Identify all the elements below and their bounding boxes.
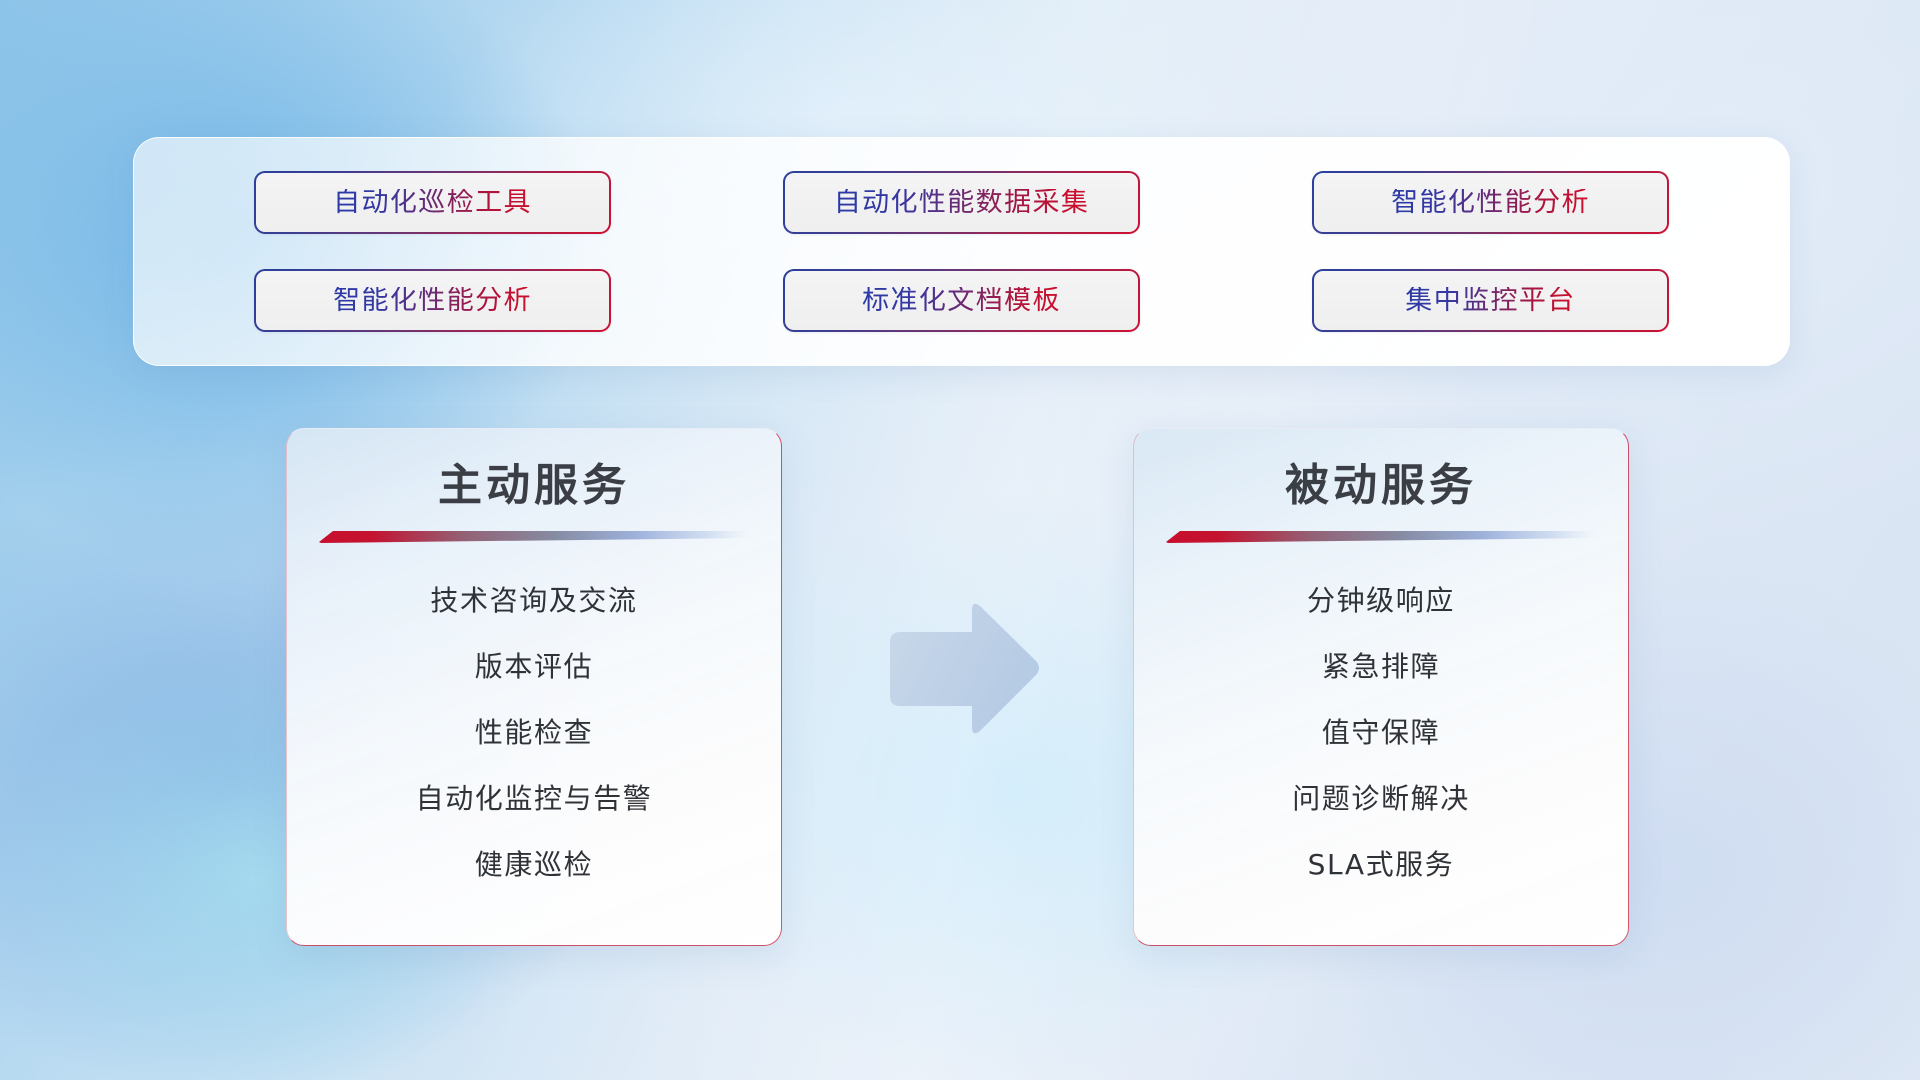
capability-pill-label: 自动化巡检工具 <box>333 189 532 216</box>
service-list-item: SLA式服务 <box>1308 851 1455 879</box>
service-card-passive[interactable]: 被动服务 分钟级响应 紧急排障 值守保障 问题诊断解决 SLA式服务 <box>1133 428 1629 946</box>
service-card-list: 分钟级响应 紧急排障 值守保障 问题诊断解决 SLA式服务 <box>1134 587 1628 879</box>
capability-pill-6[interactable]: 集中监控平台 <box>1312 269 1669 332</box>
service-list-item: 分钟级响应 <box>1307 587 1455 615</box>
capability-pill-3[interactable]: 智能化性能分析 <box>1312 171 1669 234</box>
capability-pill-panel: 自动化巡检工具 自动化性能数据采集 智能化性能分析 智能化性能分析 标准化文档模… <box>133 137 1790 366</box>
capability-pill-5[interactable]: 标准化文档模板 <box>783 269 1140 332</box>
capability-pill-grid: 自动化巡检工具 自动化性能数据采集 智能化性能分析 智能化性能分析 标准化文档模… <box>134 138 1789 365</box>
service-card-list: 技术咨询及交流 版本评估 性能检查 自动化监控与告警 健康巡检 <box>287 587 781 879</box>
capability-pill-4[interactable]: 智能化性能分析 <box>254 269 611 332</box>
capability-pill-label: 智能化性能分析 <box>1391 189 1590 216</box>
service-list-item: 技术咨询及交流 <box>430 587 637 615</box>
service-card-title: 主动服务 <box>287 461 781 512</box>
capability-pill-label: 自动化性能数据采集 <box>834 189 1090 216</box>
slide-canvas: 自动化巡检工具 自动化性能数据采集 智能化性能分析 智能化性能分析 标准化文档模… <box>0 0 1920 1080</box>
capability-pill-label: 标准化文档模板 <box>862 287 1061 314</box>
service-list-item: 值守保障 <box>1322 719 1440 747</box>
card-divider <box>319 529 749 544</box>
capability-pill-label: 智能化性能分析 <box>333 287 532 314</box>
service-list-item: 自动化监控与告警 <box>416 785 653 813</box>
service-list-item: 健康巡检 <box>475 851 593 879</box>
capability-pill-1[interactable]: 自动化巡检工具 <box>254 171 611 234</box>
right-arrow-icon <box>880 598 1042 740</box>
service-card-title: 被动服务 <box>1134 461 1628 512</box>
service-list-item: 版本评估 <box>475 653 593 681</box>
capability-pill-label: 集中监控平台 <box>1405 287 1575 314</box>
service-list-item: 性能检查 <box>475 719 593 747</box>
service-list-item: 紧急排障 <box>1322 653 1440 681</box>
card-divider <box>1166 529 1596 544</box>
service-list-item: 问题诊断解决 <box>1292 785 1470 813</box>
service-card-active[interactable]: 主动服务 技术咨询及交流 版本评估 性能检查 自动化监控与告警 健康巡检 <box>286 428 782 946</box>
capability-pill-2[interactable]: 自动化性能数据采集 <box>783 171 1140 234</box>
